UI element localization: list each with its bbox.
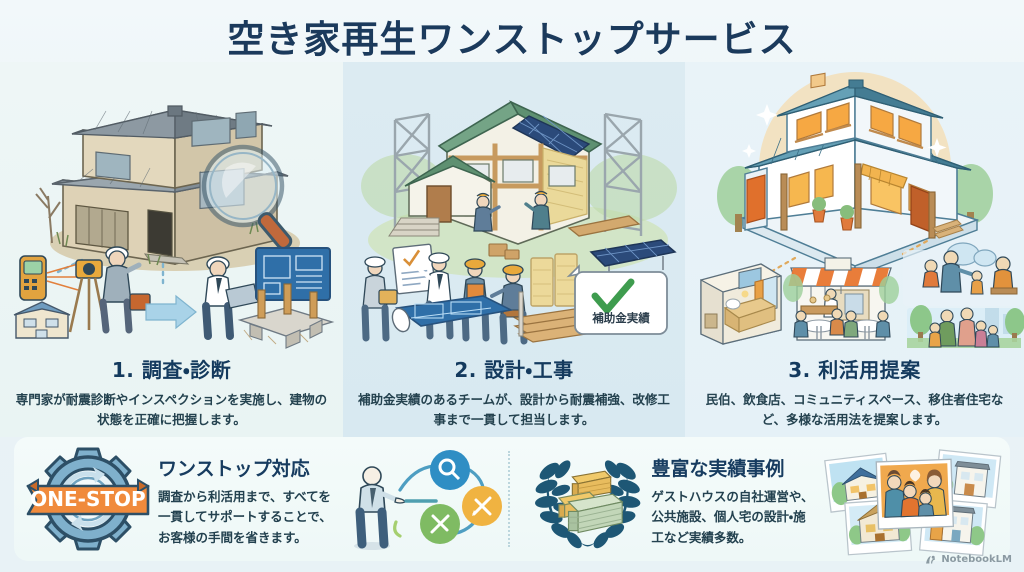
process-cycle-diagram [344, 446, 506, 552]
column-survey: 1. 調査・診断 専門家が耐震診断やインスペクションを実施し、建物の状態を正確に… [0, 62, 343, 437]
caption-survey: 1. 調査・診断 専門家が耐震診断やインスペクションを実施し、建物の状態を正確に… [10, 354, 333, 429]
gear-ribbon-icon: ONE-STOP [24, 444, 152, 554]
illustration-renovated-house-uses [685, 68, 1024, 348]
polaroid-photo-collage [818, 443, 1010, 555]
benefit-heading: 豊富な実績事例 [651, 454, 816, 481]
benefit-track-record: 豊富な実績事例 ゲストハウスの自社運営や、公共施設、個人宅の設計・施工など実績多… [508, 437, 1010, 561]
notebooklm-logo-icon [924, 553, 937, 566]
poster-title-band: 空き家再生ワンストップサービス [0, 0, 1024, 72]
column-body: 専門家が耐震診断やインスペクションを実施し、建物の状態を正確に把握します。 [10, 390, 333, 429]
benefit-heading: ワンストップ対応 [158, 454, 340, 481]
caption-design-construction: 2. 設計・工事 補助金実績のあるチームが、設計から耐震補強、改修工事まで一貫し… [353, 354, 675, 429]
page-title: 空き家再生ワンストップサービス [227, 9, 796, 63]
subsidy-badge-label: 補助金実績 [581, 310, 661, 326]
process-columns: 1. 調査・診断 専門家が耐震診断やインスペクションを実施し、建物の状態を正確に… [0, 62, 1024, 437]
illustration-house-under-renovation: 補助金実績 [343, 68, 685, 348]
benefit-body: 調査から利活用まで、すべてを一貫してサポートすることで、お客様の手間を省きます。 [158, 487, 340, 548]
column-heading: 1. 調査・診断 [10, 354, 333, 383]
column-body: 民伯、飲食店、コミュニティスペース、移住者住宅など、多様な活用法を提案します。 [695, 390, 1014, 429]
watermark-label: NotebookLM [941, 554, 1012, 565]
column-body: 補助金実績のあるチームが、設計から耐震補強、改修工事まで一貫して担当します。 [353, 390, 675, 429]
infographic-poster: 1. 調査・診断 専門家が耐震診断やインスペクションを実施し、建物の状態を正確に… [0, 0, 1024, 572]
notebooklm-watermark: NotebookLM [924, 553, 1012, 566]
illustration-old-vacant-house [0, 68, 343, 348]
one-stop-text-block: ワンストップ対応 調査から利活用まで、すべてを一貫してサポートすることで、お客様… [158, 450, 340, 548]
column-heading: 2. 設計・工事 [353, 354, 675, 383]
benefit-one-stop: ONE-STOP ワンストップ対応 調査から利活用まで、すべてを一貫してサポート… [14, 437, 508, 561]
track-record-text-block: 豊富な実績事例 ゲストハウスの自社運営や、公共施設、個人宅の設計・施工など実績多… [651, 450, 816, 548]
caption-utilization: 3. 利活用提案 民伯、飲食店、コミュニティスペース、移住者住宅など、多様な活用… [695, 354, 1014, 429]
benefit-body: ゲストハウスの自社運営や、公共施設、個人宅の設計・施工など実績多数。 [651, 487, 816, 548]
column-design-construction: 補助金実績 2. 設計・工事 補助金実績のあるチームが、設計から耐震補強、改修工… [343, 62, 685, 437]
column-utilization: 3. 利活用提案 民伯、飲食店、コミュニティスペース、移住者住宅など、多様な活用… [685, 62, 1024, 437]
benefits-band: ONE-STOP ワンストップ対応 調査から利活用まで、すべてを一貫してサポート… [14, 437, 1010, 561]
laurel-wreath-icon [534, 446, 641, 552]
column-heading: 3. 利活用提案 [695, 354, 1014, 383]
one-stop-ribbon-label: ONE-STOP [30, 487, 145, 511]
